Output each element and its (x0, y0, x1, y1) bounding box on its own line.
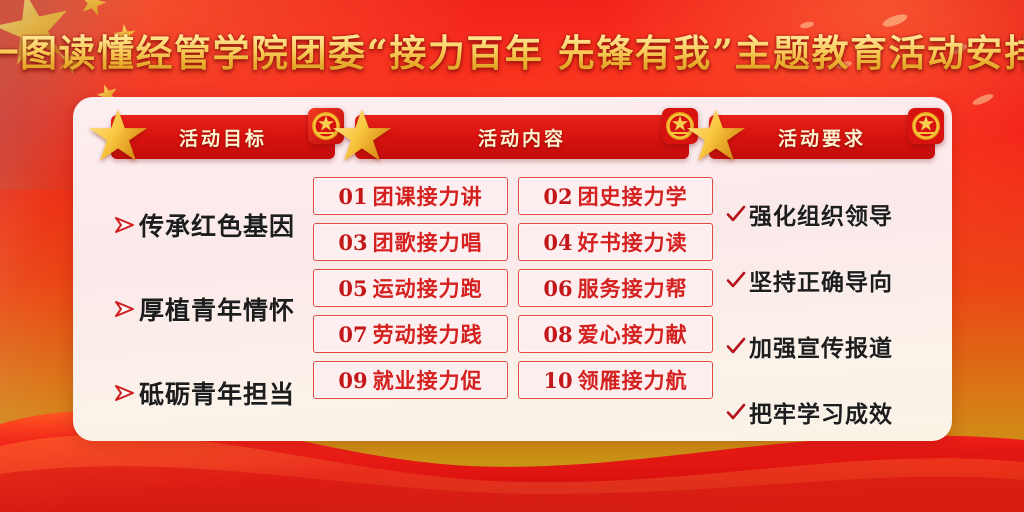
section-header-label: 活动目标 (179, 124, 267, 151)
content-item[interactable]: 07 劳动接力践 (313, 315, 508, 353)
section-header-requirements: 活动要求 (709, 115, 935, 159)
section-header-label: 活动要求 (778, 124, 866, 151)
content-item[interactable]: 01 团课接力讲 (313, 177, 508, 215)
poster-root: 一图读懂经管学院团委“接力百年 先锋有我”主题教育活动安排 活动目标 (0, 0, 1024, 512)
content-column: 01 团课接力讲 02 团史接力学 03 团歌接力唱 04 好书接力读 05 (313, 177, 713, 399)
arrow-bullet-icon (111, 216, 139, 234)
content-item-number: 08 (543, 322, 572, 347)
requirement-item: 坚持正确导向 (709, 247, 949, 313)
content-item-number: 01 (338, 184, 367, 209)
checkmark-icon (723, 403, 749, 421)
content-item-label: 团课接力讲 (373, 181, 483, 211)
content-item-label: 领雁接力航 (578, 365, 688, 395)
section-header-content: 活动内容 (355, 115, 689, 159)
gold-star-icon (89, 108, 147, 164)
goal-item: 砥砺青年担当 (93, 351, 343, 435)
content-item-label: 团史接力学 (578, 181, 688, 211)
requirement-item: 加强宣传报道 (709, 313, 949, 379)
content-item[interactable]: 08 爱心接力献 (518, 315, 713, 353)
section-header-goals: 活动目标 (111, 115, 335, 159)
youth-league-emblem-icon (903, 103, 949, 149)
content-item-label: 运动接力跑 (373, 273, 483, 303)
section-headers-row: 活动目标 (73, 115, 952, 165)
requirement-item: 把牢学习成效 (709, 379, 949, 445)
arrow-bullet-icon (111, 384, 139, 402)
requirement-item-label: 把牢学习成效 (749, 395, 893, 429)
content-item[interactable]: 10 领雁接力航 (518, 361, 713, 399)
content-item-number: 09 (338, 368, 367, 393)
content-item-label: 爱心接力献 (578, 319, 688, 349)
content-item[interactable]: 02 团史接力学 (518, 177, 713, 215)
content-item-number: 04 (543, 230, 572, 255)
gold-star-icon (687, 108, 745, 164)
content-item-number: 05 (338, 276, 367, 301)
content-item-label: 好书接力读 (578, 227, 688, 257)
poster-title: 一图读懂经管学院团委“接力百年 先锋有我”主题教育活动安排 (0, 24, 1024, 76)
content-card: 活动目标 (73, 97, 952, 441)
content-item-label: 团歌接力唱 (373, 227, 483, 257)
requirement-item-label: 坚持正确导向 (749, 263, 893, 297)
content-item[interactable]: 04 好书接力读 (518, 223, 713, 261)
content-item-number: 06 (543, 276, 572, 301)
requirements-column: 强化组织领导 坚持正确导向 加强宣传报道 把牢学习成效 (709, 181, 949, 445)
content-item-number: 03 (338, 230, 367, 255)
content-item-number: 02 (543, 184, 572, 209)
content-item-number: 10 (543, 368, 572, 393)
goal-item: 厚植青年情怀 (93, 267, 343, 351)
requirement-item-label: 强化组织领导 (749, 197, 893, 231)
goal-item-label: 砥砺青年担当 (139, 375, 295, 411)
section-header-label: 活动内容 (478, 124, 566, 151)
goal-item: 传承红色基因 (93, 183, 343, 267)
checkmark-icon (723, 337, 749, 355)
flag-star-small-icon (77, 0, 109, 19)
content-item-number: 07 (338, 322, 367, 347)
content-item-label: 劳动接力践 (373, 319, 483, 349)
goal-item-label: 厚植青年情怀 (139, 291, 295, 327)
arrow-bullet-icon (111, 300, 139, 318)
content-items-grid: 01 团课接力讲 02 团史接力学 03 团歌接力唱 04 好书接力读 05 (313, 177, 713, 399)
goals-column: 传承红色基因 厚植青年情怀 砥砺青年担当 (93, 183, 343, 435)
content-item-label: 服务接力帮 (578, 273, 688, 303)
content-item-label: 就业接力促 (373, 365, 483, 395)
content-item[interactable]: 06 服务接力帮 (518, 269, 713, 307)
content-item[interactable]: 09 就业接力促 (313, 361, 508, 399)
requirement-item: 强化组织领导 (709, 181, 949, 247)
gold-star-icon (333, 108, 391, 164)
content-item[interactable]: 05 运动接力跑 (313, 269, 508, 307)
poster-title-text: 一图读懂经管学院团委“接力百年 先锋有我”主题教育活动安排 (0, 23, 1024, 77)
checkmark-icon (723, 205, 749, 223)
requirement-item-label: 加强宣传报道 (749, 329, 893, 363)
content-item[interactable]: 03 团歌接力唱 (313, 223, 508, 261)
checkmark-icon (723, 271, 749, 289)
goal-item-label: 传承红色基因 (139, 207, 295, 243)
